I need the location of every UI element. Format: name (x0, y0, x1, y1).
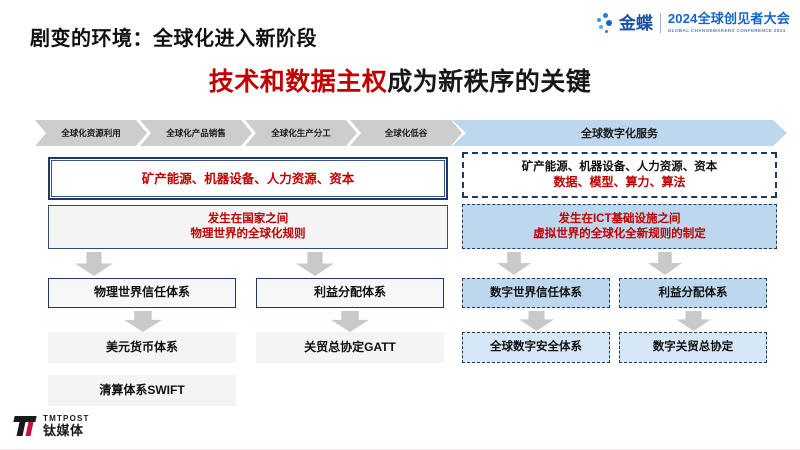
arrow-down-right-4 (676, 311, 711, 331)
left-resources-box: 矿产能源、机器设备、人力资源、资本 (48, 157, 448, 200)
arrow-down-right-1 (497, 252, 531, 275)
conference-title-group: 2024全球创见者大会 GLOBAL CHANGEMAKERS CONFEREN… (668, 12, 790, 33)
ribbon-stage-3[interactable]: 全球化生产分工 (245, 120, 357, 146)
right-outcome-box-1: 全球数字安全体系 (462, 332, 610, 363)
right-rules-box: 发生在ICT基础设施之间 虚拟世界的全球化全新规则的制定 (462, 204, 777, 249)
left-system-label: 利益分配体系 (314, 285, 386, 300)
right-outcome-label: 数字关贸总协定 (653, 340, 734, 355)
left-outcome-label: 美元货币体系 (106, 340, 178, 355)
page-subtitle: 技术和数据主权成为新秩序的关键 (0, 62, 800, 98)
ribbon-stage-label: 全球化生产分工 (271, 127, 331, 139)
left-system-box-2: 利益分配体系 (256, 278, 444, 308)
arrow-down-left-4 (331, 311, 369, 332)
left-resources-line-1: 矿产能源、机器设备、人力资源、资本 (142, 171, 355, 187)
subtitle-rest: 成为新秩序的关键 (387, 68, 591, 96)
left-extra-box-1: 清算体系SWIFT (48, 375, 236, 406)
arrow-down-left-2 (296, 252, 334, 276)
right-outcome-box-2: 数字关贸总协定 (619, 332, 767, 363)
conference-title-en: GLOBAL CHANGEMAKERS CONFERENCE 2024 (668, 28, 790, 34)
slide-canvas: 金蝶 2024全球创见者大会 GLOBAL CHANGEMAKERS CONFE… (0, 0, 800, 450)
right-system-label: 数字世界信任体系 (490, 286, 582, 301)
right-system-box-1: 数字世界信任体系 (462, 278, 610, 308)
page-title: 剧变的环境：全球化进入新阶段 (30, 22, 317, 51)
left-rules-line-1: 发生在国家之间 (208, 212, 289, 227)
left-system-label: 物理世界信任体系 (94, 285, 190, 300)
tmtpost-logo-cn: 钛媒体 (43, 424, 90, 437)
left-outcome-box-1: 美元货币体系 (48, 332, 236, 363)
tmtpost-mark-icon (12, 414, 38, 438)
ribbon-stage-label: 全球化资源利用 (61, 127, 121, 139)
ribbon-stage-label: 全球数字化服务 (581, 125, 658, 141)
kingdee-brand-logo: 金蝶 2024全球创见者大会 GLOBAL CHANGEMAKERS CONFE… (594, 8, 790, 38)
ribbon-stage-4[interactable]: 全球化低谷 (350, 120, 462, 146)
arrow-down-left-1 (75, 252, 113, 276)
brand-name: 金蝶 (619, 15, 653, 32)
tmtpost-wordmark: TMTPOST 钛媒体 (43, 415, 90, 437)
arrow-down-right-3 (519, 311, 554, 331)
left-system-box-1: 物理世界信任体系 (48, 278, 236, 308)
timeline-ribbon: 全球化资源利用 全球化产品销售 全球化生产分工 全球化低谷 全球数字化服务 (0, 120, 800, 146)
arrow-down-right-2 (648, 252, 682, 275)
left-outcome-label: 关贸总协定GATT (304, 340, 396, 355)
kingdee-dots-icon (594, 11, 616, 35)
right-system-label: 利益分配体系 (659, 286, 728, 301)
tmtpost-logo: TMTPOST 钛媒体 (12, 414, 90, 438)
right-resources-line-2: 数据、模型、算力、算法 (553, 175, 685, 190)
left-rules-box: 发生在国家之间 物理世界的全球化规则 (48, 205, 448, 249)
arrow-down-left-3 (124, 311, 162, 332)
right-rules-line-2: 虚拟世界的全球化全新规则的制定 (533, 227, 706, 242)
tmtpost-logo-en: TMTPOST (43, 415, 90, 423)
ribbon-stage-5[interactable]: 全球数字化服务 (452, 120, 787, 146)
ribbon-stage-label: 全球化低谷 (385, 127, 428, 139)
subtitle-highlight: 技术和数据主权 (209, 68, 388, 96)
brand-separator (660, 13, 661, 33)
conference-title-cn: 2024全球创见者大会 (668, 12, 790, 26)
right-outcome-label: 全球数字安全体系 (490, 340, 582, 355)
ribbon-stage-2[interactable]: 全球化产品销售 (140, 120, 252, 146)
right-system-box-2: 利益分配体系 (619, 278, 767, 308)
right-rules-line-1: 发生在ICT基础设施之间 (558, 212, 680, 227)
right-resources-line-1: 矿产能源、机器设备、人力资源、资本 (522, 160, 718, 175)
left-outcome-box-2: 关贸总协定GATT (256, 332, 444, 363)
ribbon-stage-label: 全球化产品销售 (166, 127, 226, 139)
left-rules-line-2: 物理世界的全球化规则 (191, 227, 306, 242)
ribbon-stage-1[interactable]: 全球化资源利用 (35, 120, 147, 146)
right-resources-box: 矿产能源、机器设备、人力资源、资本 数据、模型、算力、算法 (462, 152, 777, 198)
left-extra-label: 清算体系SWIFT (99, 383, 184, 398)
